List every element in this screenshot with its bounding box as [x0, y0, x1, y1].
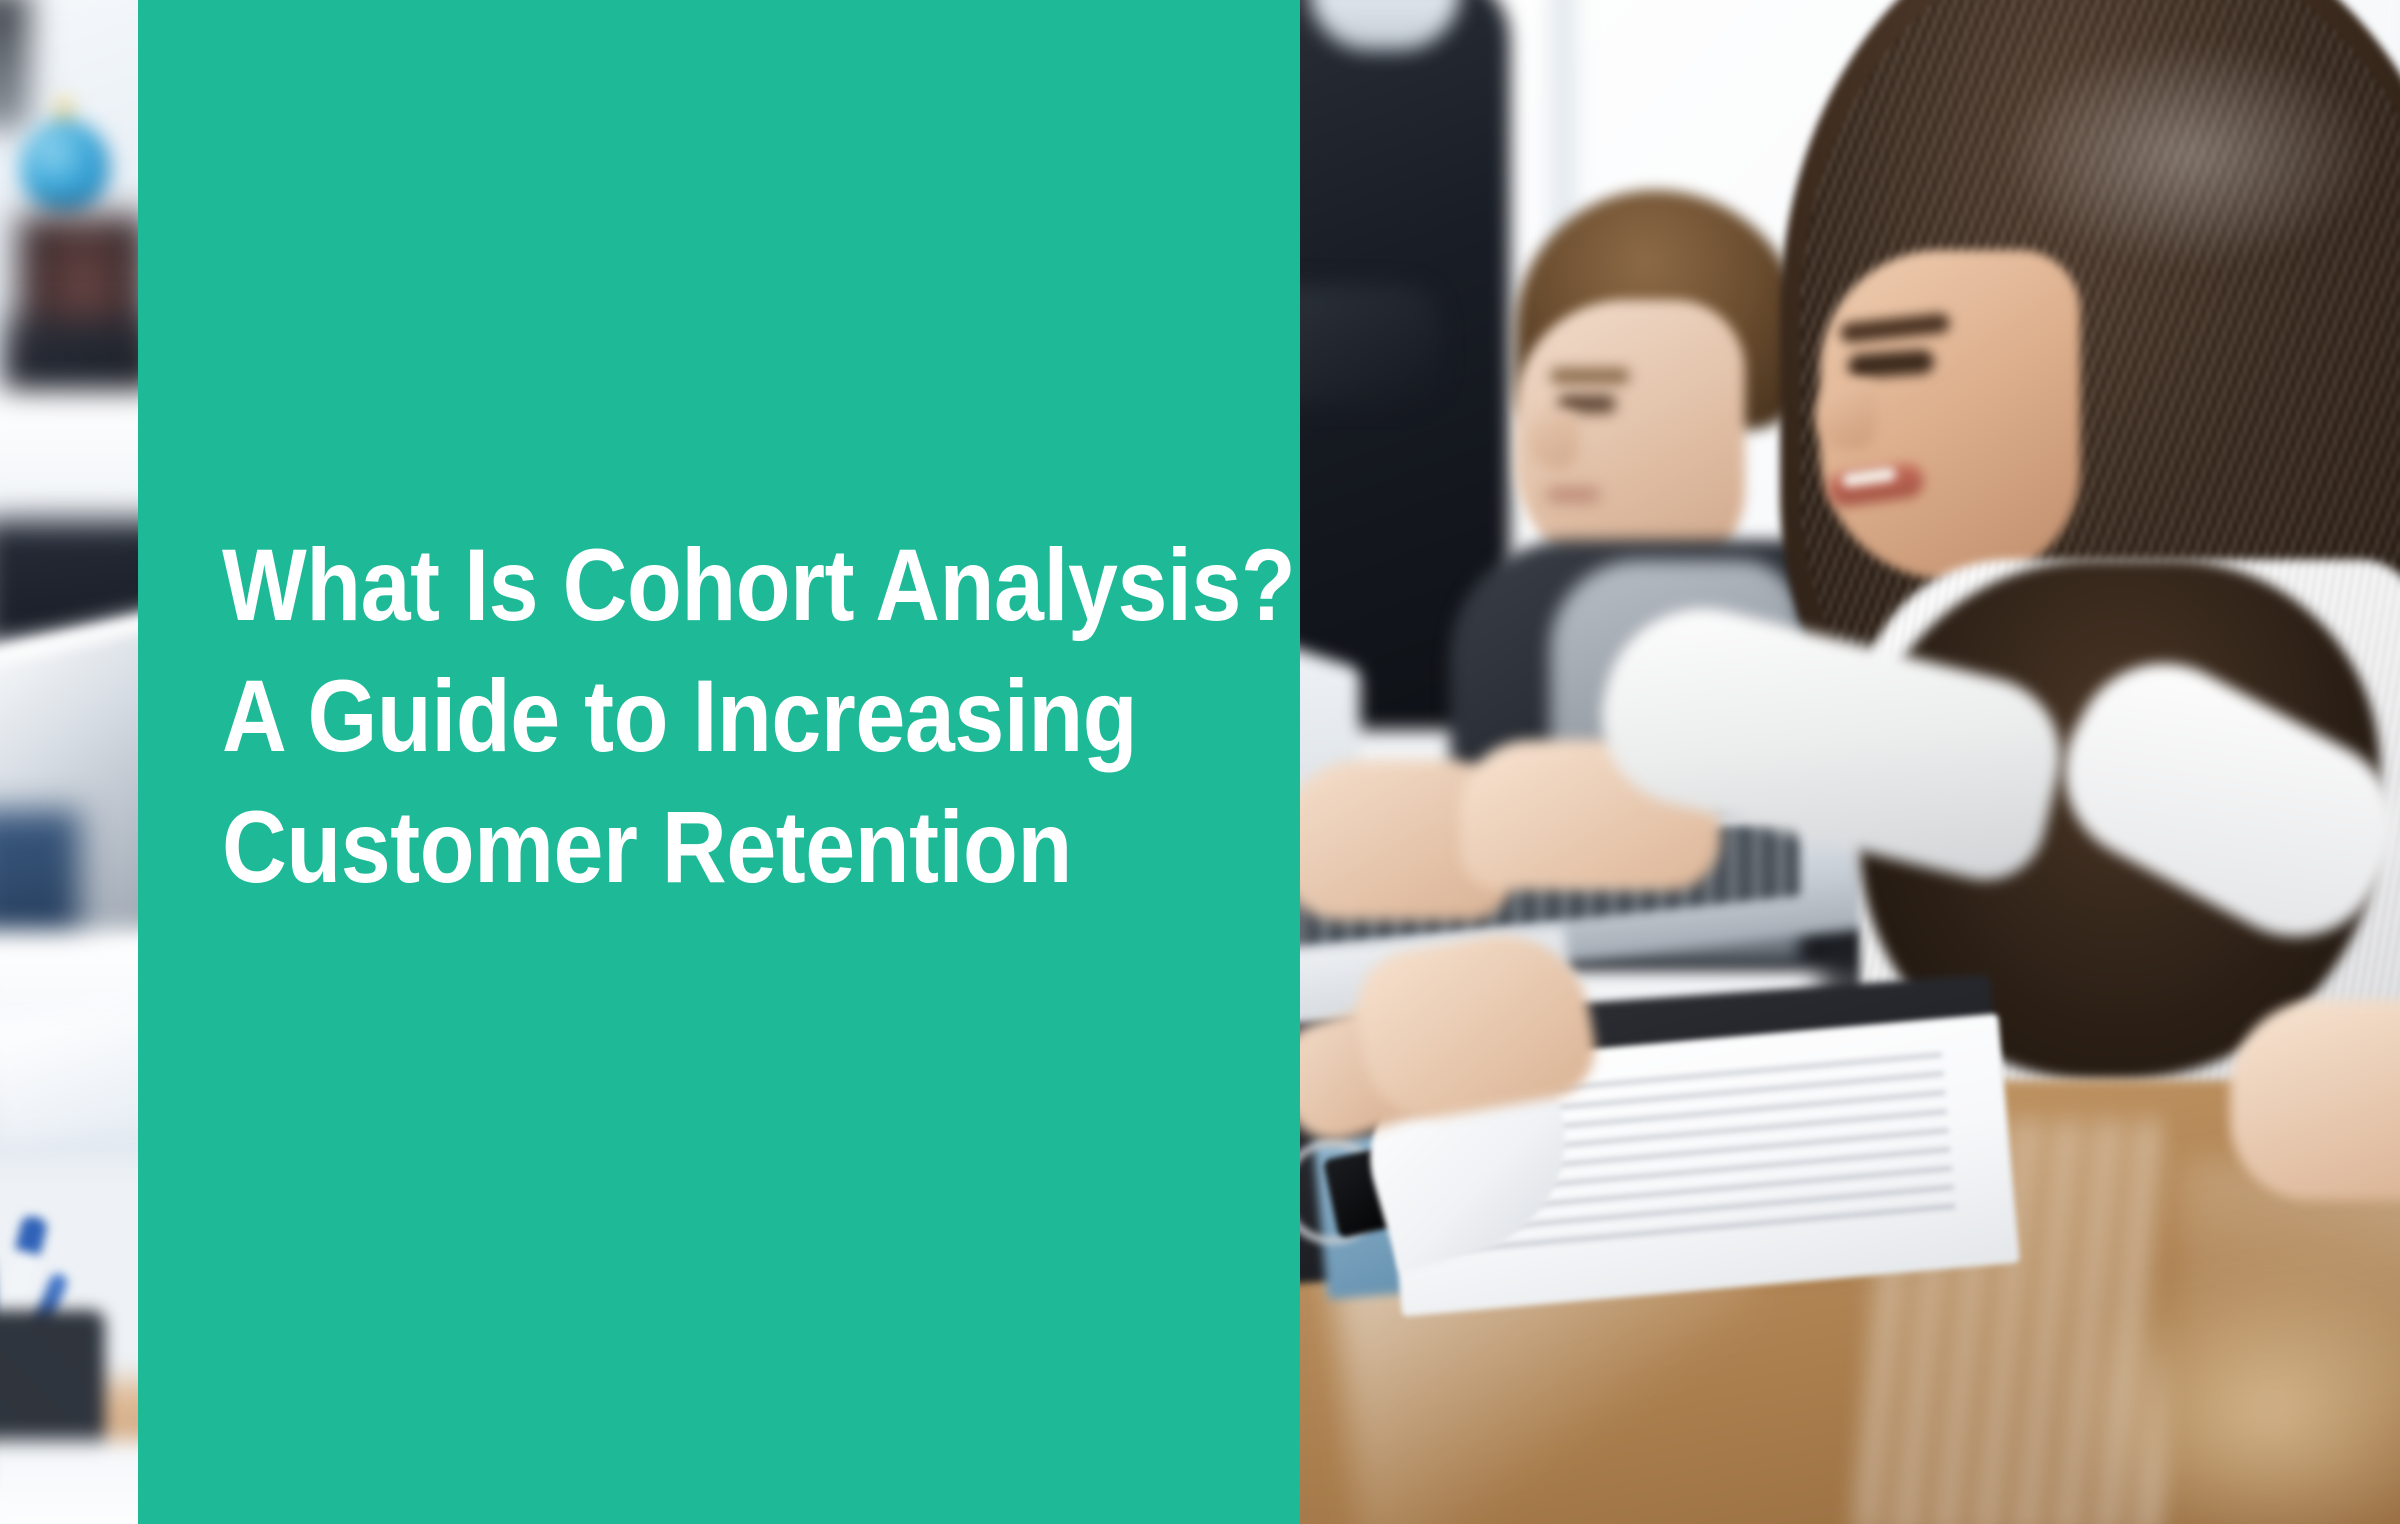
suit-arm — [1300, 285, 1440, 405]
tilted-paper-blur — [0, 997, 138, 1144]
headline-line-2: A Guide to Increasing — [222, 651, 1155, 782]
headline-line-3: Customer Retention — [222, 782, 1155, 913]
page-title: What Is Cohort Analysis? A Guide to Incr… — [222, 520, 1282, 913]
dark-edge-blur — [0, 0, 30, 130]
man-mouth — [1546, 488, 1600, 502]
hero-banner: What Is Cohort Analysis? A Guide to Incr… — [0, 0, 2400, 1524]
headline-line-1: What Is Cohort Analysis? — [222, 520, 1155, 651]
woman-hand-right — [2230, 1000, 2400, 1200]
white-highlight — [0, 390, 138, 520]
bottom-white-blur — [0, 1440, 138, 1524]
man-brow — [1550, 368, 1630, 384]
warm-glow — [2060, 1260, 2400, 1524]
right-photo — [1300, 0, 2400, 1524]
left-photo-strip — [0, 0, 138, 1524]
woman-hair-highlight — [2000, 40, 2380, 270]
blue-globe-blur — [20, 120, 110, 215]
green-title-panel: What Is Cohort Analysis? A Guide to Incr… — [138, 0, 1300, 1524]
